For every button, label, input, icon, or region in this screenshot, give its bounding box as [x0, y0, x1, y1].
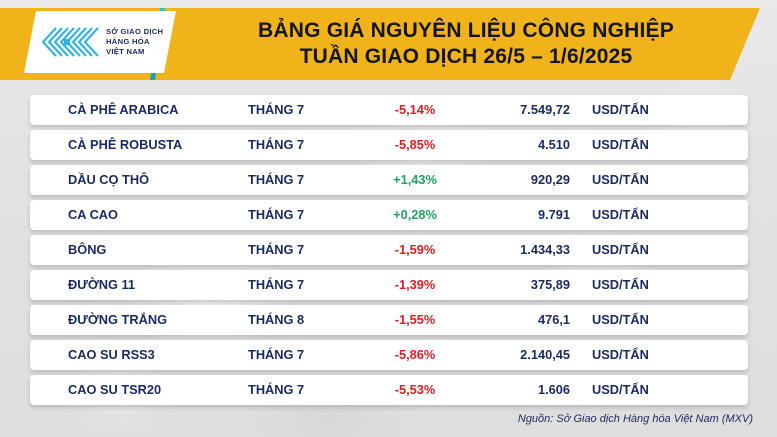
- cell-unit: USD/TẤN: [592, 165, 649, 195]
- cell-unit: USD/TẤN: [592, 270, 649, 300]
- cell-contract-month: THÁNG 7: [248, 95, 304, 125]
- page-title: BẢNG GIÁ NGUYÊN LIỆU CÔNG NGHIỆP TUẦN GI…: [186, 10, 746, 78]
- table-row[interactable]: CÀ PHÊ ARABICATHÁNG 7-5,14%7.549,72USD/T…: [30, 95, 748, 125]
- logo-text-line-1: SỞ GIAO DỊCH: [106, 27, 163, 37]
- cell-price: 375,89: [450, 270, 570, 300]
- table-row[interactable]: CÀ PHÊ ROBUSTATHÁNG 7-5,85%4.510USD/TẤN: [30, 130, 748, 160]
- cell-price: 476,1: [450, 305, 570, 335]
- cell-unit: USD/TẤN: [592, 95, 649, 125]
- source-note: Nguồn: Sở Giao dịch Hàng hóa Việt Nam (M…: [518, 413, 753, 425]
- cell-commodity-name: BÔNG: [68, 235, 106, 265]
- cell-unit: USD/TẤN: [592, 130, 649, 160]
- cell-price: 7.549,72: [450, 95, 570, 125]
- cell-unit: USD/TẤN: [592, 340, 649, 370]
- mxv-geometric-logo-icon: [40, 25, 100, 59]
- cell-unit: USD/TẤN: [592, 200, 649, 230]
- table-row[interactable]: ĐƯỜNG 11THÁNG 7-1,39%375,89USD/TẤN: [30, 270, 748, 300]
- cell-unit: USD/TẤN: [592, 235, 649, 265]
- cell-contract-month: THÁNG 8: [248, 305, 304, 335]
- table-row[interactable]: CAO SU TSR20THÁNG 7-5,53%1.606USD/TẤN: [30, 375, 748, 405]
- cell-contract-month: THÁNG 7: [248, 235, 304, 265]
- table-row[interactable]: CAO SU RSS3THÁNG 7-5,86%2.140,45USD/TẤN: [30, 340, 748, 370]
- table-row[interactable]: CA CAOTHÁNG 7+0,28%9.791USD/TẤN: [30, 200, 748, 230]
- cell-price: 2.140,45: [450, 340, 570, 370]
- cell-price: 1.434,33: [450, 235, 570, 265]
- cell-price: 1.606: [450, 375, 570, 405]
- cell-price: 4.510: [450, 130, 570, 160]
- table-row[interactable]: DẦU CỌ THÔTHÁNG 7+1,43%920,29USD/TẤN: [30, 165, 748, 195]
- cell-commodity-name: CÀ PHÊ ARABICA: [68, 95, 178, 125]
- price-board-page: SỞ GIAO DỊCH HÀNG HÓA VIỆT NAM BẢNG GIÁ …: [0, 0, 777, 437]
- cell-contract-month: THÁNG 7: [248, 165, 304, 195]
- cell-commodity-name: CÀ PHÊ ROBUSTA: [68, 130, 182, 160]
- cell-contract-month: THÁNG 7: [248, 375, 304, 405]
- logo-text-block: SỞ GIAO DỊCH HÀNG HÓA VIỆT NAM: [106, 27, 163, 57]
- cell-commodity-name: DẦU CỌ THÔ: [68, 165, 149, 195]
- commodity-price-table: CÀ PHÊ ARABICATHÁNG 7-5,14%7.549,72USD/T…: [0, 88, 777, 406]
- cell-commodity-name: CA CAO: [68, 200, 118, 230]
- header-banner: SỞ GIAO DỊCH HÀNG HÓA VIỆT NAM BẢNG GIÁ …: [0, 0, 777, 88]
- table-row[interactable]: ĐƯỜNG TRẮNGTHÁNG 8-1,55%476,1USD/TẤN: [30, 305, 748, 335]
- cell-contract-month: THÁNG 7: [248, 340, 304, 370]
- cell-price: 920,29: [450, 165, 570, 195]
- cell-commodity-name: CAO SU TSR20: [68, 375, 161, 405]
- table-row[interactable]: BÔNGTHÁNG 7-1,59%1.434,33USD/TẤN: [30, 235, 748, 265]
- cell-commodity-name: CAO SU RSS3: [68, 340, 155, 370]
- page-title-line-2: TUẦN GIAO DỊCH 26/5 – 1/6/2025: [300, 44, 633, 70]
- cell-contract-month: THÁNG 7: [248, 130, 304, 160]
- cell-unit: USD/TẤN: [592, 305, 649, 335]
- cell-unit: USD/TẤN: [592, 375, 649, 405]
- cell-contract-month: THÁNG 7: [248, 200, 304, 230]
- cell-commodity-name: ĐƯỜNG TRẮNG: [68, 305, 167, 335]
- logo-card: SỞ GIAO DỊCH HÀNG HÓA VIỆT NAM: [24, 11, 176, 73]
- cell-price: 9.791: [450, 200, 570, 230]
- logo-text-line-3: VIỆT NAM: [106, 47, 163, 57]
- cell-contract-month: THÁNG 7: [248, 270, 304, 300]
- logo-text-line-2: HÀNG HÓA: [106, 37, 163, 47]
- page-title-line-1: BẢNG GIÁ NGUYÊN LIỆU CÔNG NGHIỆP: [258, 18, 674, 44]
- cell-commodity-name: ĐƯỜNG 11: [68, 270, 135, 300]
